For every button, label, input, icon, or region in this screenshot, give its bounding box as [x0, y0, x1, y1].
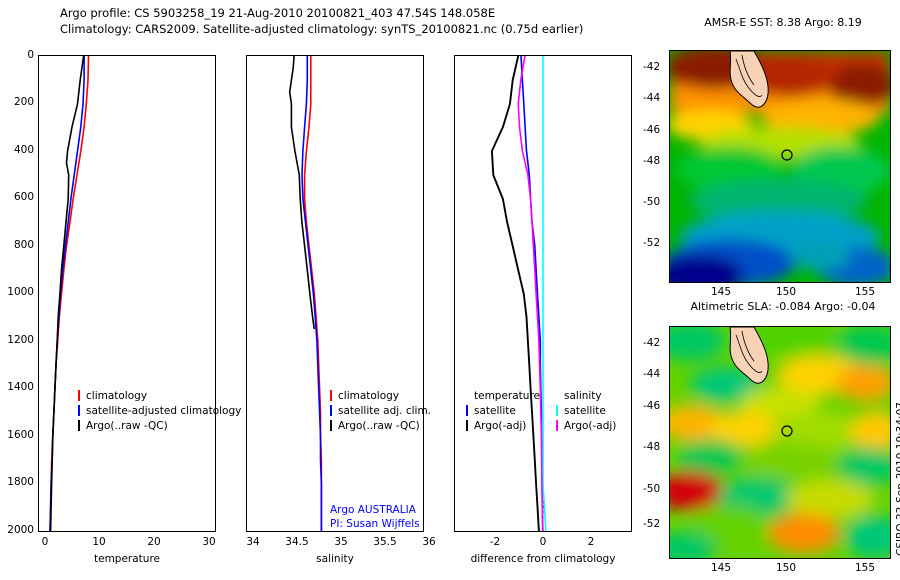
difference-legend-right: salinity satellite Argo(-adj)	[556, 388, 616, 433]
plot-title-line1: Argo profile: CS 5903258_19 21-Aug-2010 …	[60, 6, 660, 20]
diff-xtick-2: 2	[574, 536, 608, 548]
temp-ytick-1800: 1800	[0, 476, 34, 488]
series-argo-raw	[51, 56, 84, 531]
legend-label-climatology: climatology	[86, 390, 147, 402]
sla-xtick-145: 145	[711, 562, 731, 574]
sla-ytick--48: -48	[643, 441, 660, 453]
legend-swatch-satellite-adjusted	[330, 405, 332, 416]
plot-title-line2: Climatology: CARS2009. Satellite-adjuste…	[60, 22, 680, 36]
diff-xtick-neg2: -2	[478, 536, 512, 548]
legend-item-salinity-satellite: satellite	[556, 403, 616, 418]
legend-item-temperature-satellite: satellite	[466, 403, 540, 418]
sla-map-title: Altimetric SLA: -0.084 Argo: -0.04	[668, 300, 898, 313]
argo-australia-line2: PI: Susan Wijffels	[330, 518, 420, 530]
sla-ytick--52: -52	[643, 518, 660, 530]
sal-xtick-35: 35	[324, 536, 358, 548]
sst-ytick--42: -42	[643, 61, 660, 73]
legend-label-temperature-argo-adj: Argo(-adj)	[474, 420, 526, 432]
sla-xtick-150: 150	[776, 562, 796, 574]
temp-ytick-600: 600	[0, 191, 34, 203]
legend-label-argo-raw: Argo(..raw -QC)	[86, 420, 168, 432]
temp-xtick-0: 0	[28, 536, 62, 548]
legend-item-satellite-adjusted: satellite adj. clim.	[330, 403, 431, 418]
sst-ytick--44: -44	[643, 92, 660, 104]
sla-map-svg	[670, 327, 890, 558]
temp-ytick-1600: 1600	[0, 429, 34, 441]
sst-map-svg	[670, 51, 890, 282]
temperature-legend: climatology satellite-adjusted climatolo…	[78, 388, 241, 433]
legend-item-argo-raw: Argo(..raw -QC)	[330, 418, 431, 433]
legend-label-temperature: temperature	[474, 390, 540, 402]
temp-ytick-1000: 1000	[0, 286, 34, 298]
sla-map-panel	[669, 326, 891, 559]
sla-ytick--42: -42	[643, 337, 660, 349]
csiro-credit: CSIRO 22-Sep-2010 19:34:07	[895, 402, 900, 556]
sst-map-panel	[669, 50, 891, 283]
sst-ytick--52: -52	[643, 237, 660, 249]
legend-item-climatology: climatology	[330, 388, 431, 403]
temp-xtick-30: 30	[192, 536, 226, 548]
difference-legend-left: temperature satellite Argo(-adj)	[466, 388, 540, 433]
temp-ytick-1400: 1400	[0, 381, 34, 393]
legend-item-climatology: climatology	[78, 388, 241, 403]
sst-xtick-150: 150	[776, 286, 796, 298]
temp-ytick-400: 400	[0, 144, 34, 156]
sal-xtick-34: 34	[236, 536, 270, 548]
argo-australia-line1: Argo AUSTRALIA	[330, 504, 420, 516]
salinity-plot-svg	[247, 56, 423, 531]
series-satellite-adjusted	[50, 56, 84, 531]
legend-swatch-temperature-satellite	[466, 405, 468, 416]
temp-ytick-800: 800	[0, 239, 34, 251]
sla-ytick--46: -46	[643, 400, 660, 412]
temperature-axis-label: temperature	[38, 553, 216, 565]
series-salinity-argo-adj	[518, 56, 543, 531]
legend-item-salinity: salinity	[556, 388, 616, 403]
temp-ytick-0: 0	[0, 49, 34, 61]
sst-xtick-155: 155	[855, 286, 875, 298]
difference-plot-svg	[455, 56, 631, 531]
diff-xtick-0: 0	[526, 536, 560, 548]
series-satellite-adjusted	[302, 56, 321, 531]
legend-swatch-argo-raw	[330, 420, 332, 431]
temperature-plot-svg	[39, 56, 215, 531]
sal-xtick-35.5: 35.5	[368, 536, 402, 548]
series-climatology	[50, 56, 89, 531]
legend-item-salinity-argo-adj: Argo(-adj)	[556, 418, 616, 433]
legend-swatch-salinity	[556, 390, 558, 401]
sla-ytick--44: -44	[643, 368, 660, 380]
legend-swatch-salinity-argo-adj	[556, 420, 558, 431]
temp-xtick-10: 10	[82, 536, 116, 548]
salinity-axis-label: salinity	[246, 553, 424, 565]
legend-swatch-climatology	[330, 390, 332, 401]
sst-xtick-145: 145	[711, 286, 731, 298]
legend-label-satellite-adjusted: satellite-adjusted climatology	[86, 405, 241, 417]
difference-panel	[454, 55, 632, 532]
sla-xtick-155: 155	[855, 562, 875, 574]
sst-ytick--48: -48	[643, 155, 660, 167]
temp-ytick-2000: 2000	[0, 524, 34, 536]
legend-swatch-temperature	[466, 390, 468, 401]
argo-australia-label: Argo AUSTRALIA PI: Susan Wijffels	[330, 504, 420, 530]
legend-label-salinity: salinity	[564, 390, 602, 402]
series-salinity-satellite	[543, 56, 546, 531]
legend-label-salinity-argo-adj: Argo(-adj)	[564, 420, 616, 432]
legend-swatch-climatology	[78, 390, 80, 401]
salinity-panel	[246, 55, 424, 532]
temp-ytick-1200: 1200	[0, 334, 34, 346]
legend-label-argo-raw: Argo(..raw -QC)	[338, 420, 420, 432]
series-temperature-argo-adj	[492, 56, 539, 531]
temp-xtick-20: 20	[137, 536, 171, 548]
sal-xtick-36: 36	[412, 536, 446, 548]
legend-item-satellite-adjusted: satellite-adjusted climatology	[78, 403, 241, 418]
legend-item-temperature: temperature	[466, 388, 540, 403]
legend-swatch-argo-raw	[78, 420, 80, 431]
legend-label-satellite-adjusted: satellite adj. clim.	[338, 405, 431, 417]
salinity-legend: climatology satellite adj. clim. Argo(..…	[330, 388, 431, 433]
sst-ytick--46: -46	[643, 124, 660, 136]
legend-label-salinity-satellite: satellite	[564, 405, 606, 417]
legend-label-climatology: climatology	[338, 390, 399, 402]
legend-label-temperature-satellite: satellite	[474, 405, 516, 417]
difference-axis-label: difference from climatology	[454, 553, 632, 565]
temp-ytick-200: 200	[0, 96, 34, 108]
legend-item-temperature-argo-adj: Argo(-adj)	[466, 418, 540, 433]
sla-ytick--50: -50	[643, 483, 660, 495]
temperature-panel	[38, 55, 216, 532]
legend-item-argo-raw: Argo(..raw -QC)	[78, 418, 241, 433]
sal-xtick-34.5: 34.5	[280, 536, 314, 548]
sst-ytick--50: -50	[643, 196, 660, 208]
legend-swatch-temperature-argo-adj	[466, 420, 468, 431]
legend-swatch-satellite-adjusted	[78, 405, 80, 416]
legend-swatch-salinity-satellite	[556, 405, 558, 416]
sst-map-title: AMSR-E SST: 8.38 Argo: 8.19	[668, 16, 898, 29]
